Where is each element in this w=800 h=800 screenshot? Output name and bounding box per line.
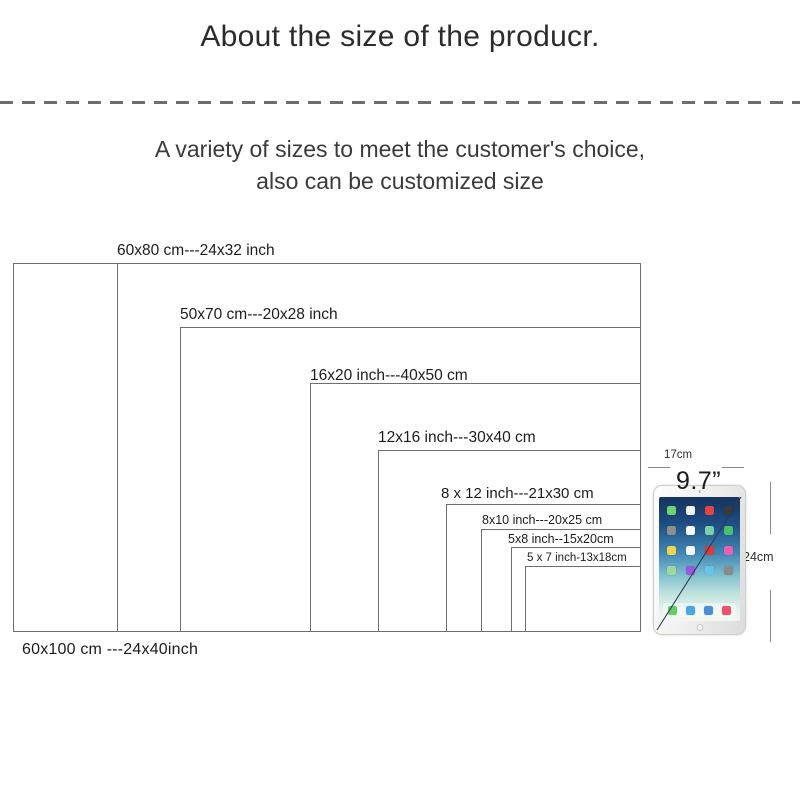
size-label-8x10: 8x10 inch---20x25 cm <box>482 514 602 527</box>
ipad-height-label: 24cm <box>743 550 774 564</box>
app-icon <box>705 566 714 575</box>
app-icon <box>705 526 714 535</box>
ipad-device <box>653 485 746 635</box>
app-icon <box>686 506 695 515</box>
app-icon <box>686 546 695 555</box>
app-icon <box>724 506 733 515</box>
size-chart-page: About the size of the producr. A variety… <box>0 0 800 800</box>
dock-app-icon <box>722 606 731 615</box>
app-icon <box>686 566 695 575</box>
size-label-60x80: 60x80 cm---24x32 inch <box>117 243 275 259</box>
ipad-homescreen-wallpaper <box>659 497 740 621</box>
dashed-divider <box>0 101 800 104</box>
size-label-50x70: 50x70 cm---20x28 inch <box>180 307 338 323</box>
dock-app-icon <box>686 606 695 615</box>
subtitle-line-1: A variety of sizes to meet the customer'… <box>0 133 800 165</box>
ipad-reference: 17cm 24cm 9.7” <box>640 450 800 645</box>
size-label-8x12: 8 x 12 inch---21x30 cm <box>441 486 594 501</box>
size-label-12x16: 12x16 inch---30x40 cm <box>378 430 536 446</box>
subtitle-line-2: also can be customized size <box>0 165 800 197</box>
app-icon <box>686 526 695 535</box>
dock-app-icon <box>704 606 713 615</box>
ipad-dock <box>663 603 736 617</box>
app-icon <box>724 566 733 575</box>
size-label-16x20: 16x20 inch---40x50 cm <box>310 368 468 384</box>
ipad-width-label: 17cm <box>664 450 692 461</box>
app-icon <box>705 506 714 515</box>
ipad-screen <box>659 497 740 621</box>
app-icon <box>667 546 676 555</box>
page-title: About the size of the producr. <box>0 20 800 54</box>
size-label-5x7: 5 x 7 inch-13x18cm <box>527 553 627 565</box>
app-icon-grid <box>664 506 735 582</box>
app-icon <box>705 546 714 555</box>
ipad-diagonal-label: 9.7” <box>676 467 721 496</box>
size-label-60x100: 60x100 cm ---24x40inch <box>22 642 198 658</box>
size-label-5x8: 5x8 inch--15x20cm <box>508 533 614 546</box>
app-icon <box>724 546 733 555</box>
app-icon <box>667 566 676 575</box>
app-icon <box>667 526 676 535</box>
home-button-icon <box>696 624 703 631</box>
app-icon <box>724 526 733 535</box>
app-icon <box>667 506 676 515</box>
size-rect-5x7 <box>525 566 641 632</box>
dock-app-icon <box>668 606 677 615</box>
page-subtitle: A variety of sizes to meet the customer'… <box>0 133 800 197</box>
